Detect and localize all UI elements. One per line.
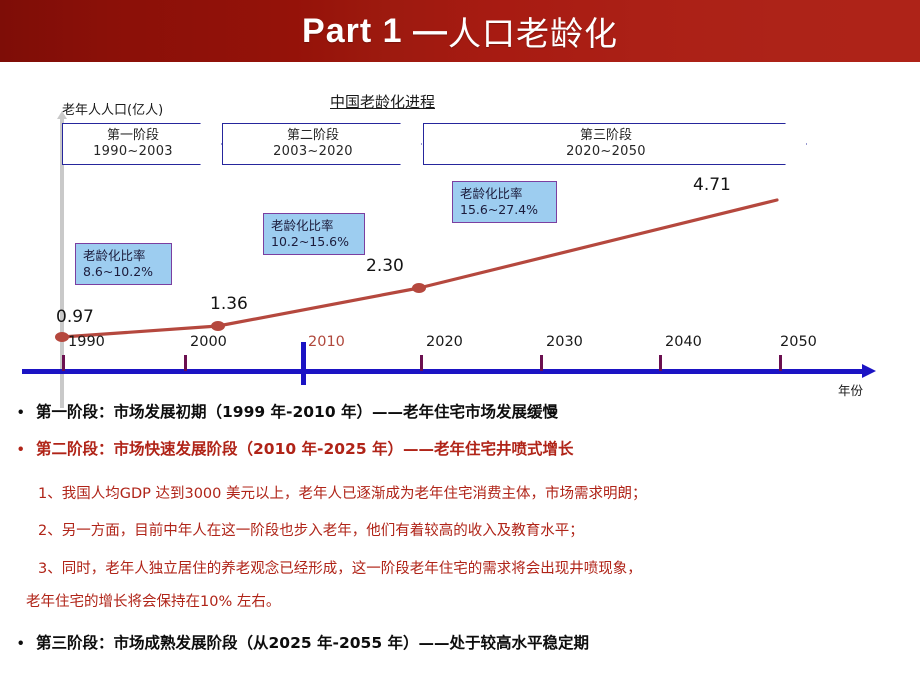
x-label-2040: 2040 bbox=[665, 334, 702, 350]
data-point-2000 bbox=[211, 321, 225, 331]
sub-point-2: 2、另一方面，目前中年人在这一阶段也步入老年，他们有着较高的收入及教育水平； bbox=[38, 519, 584, 540]
sub-point-3-line-2: 老年住宅的增长将会保持在10% 左右。 bbox=[26, 590, 280, 611]
x-label-2050: 2050 bbox=[780, 334, 817, 350]
x-label-1990: 1990 bbox=[68, 334, 105, 350]
data-label-2000: 1.36 bbox=[210, 294, 248, 314]
x-tick-2020 bbox=[420, 355, 423, 371]
x-tick-2030 bbox=[540, 355, 543, 371]
sub-point-3-line-1: 3、同时，老年人独立居住的养老观念已经形成，这一阶段老年住宅的需求将会出现井喷现… bbox=[38, 557, 642, 578]
x-tick-2000 bbox=[184, 355, 187, 371]
x-tick-2040 bbox=[659, 355, 662, 371]
body-text-block: •第一阶段：市场发展初期（1999 年-2010 年）——老年住宅市场发展缓慢 … bbox=[0, 392, 920, 690]
page-title-cn: 人口老龄化 bbox=[448, 7, 618, 55]
trend-line bbox=[62, 200, 777, 337]
x-label-2010: 2010 bbox=[308, 334, 345, 350]
bullet-icon: • bbox=[18, 441, 36, 459]
page-title-en: Part 1 — bbox=[302, 12, 448, 51]
bullet-icon: • bbox=[18, 635, 36, 653]
x-axis bbox=[22, 369, 862, 374]
data-point-1990 bbox=[55, 332, 69, 342]
bullet-phase-2-text: 第二阶段：市场快速发展阶段（2010 年-2025 年）——老年住宅井喷式增长 bbox=[36, 440, 574, 458]
sub-point-1: 1、我国人均GDP 达到3000 美元以上，老年人已逐渐成为老年住宅消费主体，市… bbox=[38, 482, 647, 503]
x-label-2030: 2030 bbox=[546, 334, 583, 350]
x-tick-1990 bbox=[62, 355, 65, 371]
data-label-2050: 4.71 bbox=[693, 175, 731, 195]
aging-chart: 中国老龄化进程 老年人人口(亿人) 第一阶段 1990~2003 第二阶段 20… bbox=[0, 62, 920, 392]
x-label-2000: 2000 bbox=[190, 334, 227, 350]
page-title: Part 1 —人口老龄化 bbox=[0, 0, 920, 62]
x-tick-2050 bbox=[779, 355, 782, 371]
bullet-phase-1-text: 第一阶段：市场发展初期（1999 年-2010 年）——老年住宅市场发展缓慢 bbox=[36, 403, 558, 421]
data-point-2020 bbox=[412, 283, 426, 293]
bullet-phase-3-text: 第三阶段：市场成熟发展阶段（从2025 年-2055 年）——处于较高水平稳定期 bbox=[36, 634, 589, 652]
x-marker-2010 bbox=[301, 342, 306, 385]
bullet-phase-3: •第三阶段：市场成熟发展阶段（从2025 年-2055 年）——处于较高水平稳定… bbox=[18, 631, 589, 653]
data-label-1990: 0.97 bbox=[56, 307, 94, 327]
bullet-phase-2: •第二阶段：市场快速发展阶段（2010 年-2025 年）——老年住宅井喷式增长 bbox=[18, 437, 574, 459]
bullet-icon: • bbox=[18, 404, 36, 422]
title-banner: Part 1 —人口老龄化 bbox=[0, 0, 920, 62]
x-label-2020: 2020 bbox=[426, 334, 463, 350]
slide-root: Part 1 —人口老龄化 中国老龄化进程 老年人人口(亿人) 第一阶段 199… bbox=[0, 0, 920, 690]
data-label-2020: 2.30 bbox=[366, 256, 404, 276]
bullet-phase-1: •第一阶段：市场发展初期（1999 年-2010 年）——老年住宅市场发展缓慢 bbox=[18, 400, 558, 422]
